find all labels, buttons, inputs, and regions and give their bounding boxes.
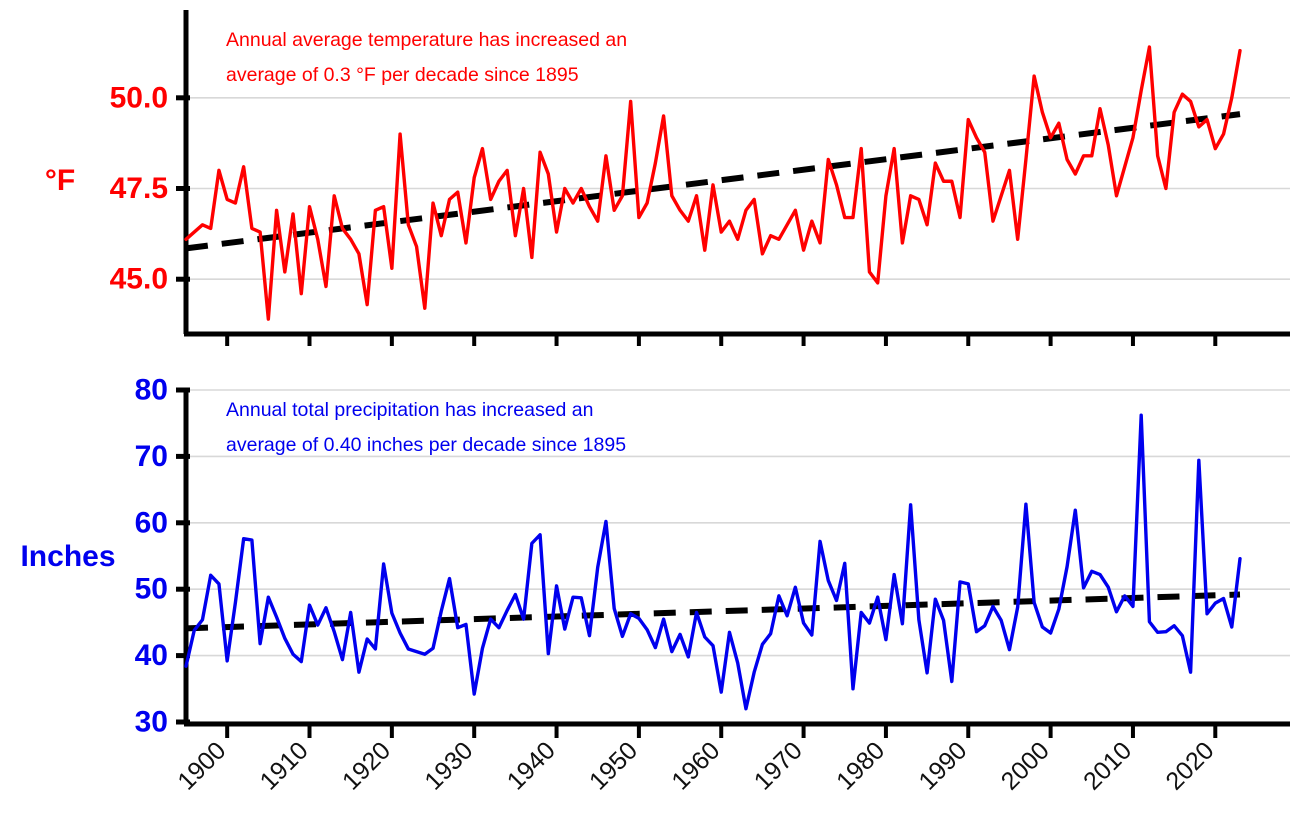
y-axis-title-precipitation: Inches bbox=[20, 540, 115, 573]
figure-canvas: 50.047.545.0 °F Annual average temperatu… bbox=[0, 0, 1300, 827]
y-tick-label-bottom: 30 bbox=[135, 706, 168, 739]
climate-chart-figure: 50.047.545.0 °F Annual average temperatu… bbox=[0, 0, 1300, 827]
annotation-precipitation-line2: average of 0.40 inches per decade since … bbox=[226, 434, 626, 456]
y-tick-label-bottom: 80 bbox=[135, 374, 168, 407]
y-tick-label-top: 50.0 bbox=[110, 81, 168, 114]
y-tick-label-top: 45.0 bbox=[110, 263, 168, 296]
y-tick-labels-temperature: 50.047.545.0 bbox=[110, 81, 168, 295]
annotation-temperature-line1: Annual average temperature has increased… bbox=[226, 29, 627, 51]
y-tick-label-bottom: 70 bbox=[135, 440, 168, 473]
annotation-precipitation-line1: Annual total precipitation has increased… bbox=[226, 399, 594, 421]
y-tick-label-top: 47.5 bbox=[110, 172, 168, 205]
y-tick-label-bottom: 60 bbox=[135, 506, 168, 539]
annotation-temperature-line2: average of 0.3 °F per decade since 1895 bbox=[226, 64, 579, 86]
y-tick-label-bottom: 40 bbox=[135, 639, 168, 672]
y-tick-label-bottom: 50 bbox=[135, 573, 168, 606]
y-axis-title-temperature: °F bbox=[45, 164, 75, 197]
